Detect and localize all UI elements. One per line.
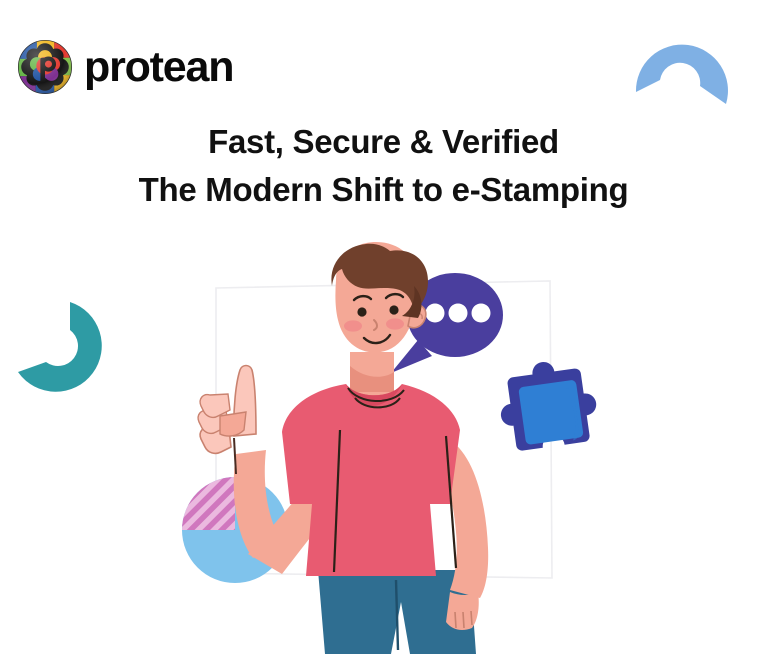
teal-arc-decoration-icon <box>14 300 108 400</box>
headline-line-2: The Modern Shift to e-Stamping <box>0 166 767 214</box>
eye-left <box>357 307 366 316</box>
speech-bubble-dot <box>472 304 491 323</box>
brand-name: protean <box>84 46 233 89</box>
blush-left <box>344 320 362 331</box>
eye-right <box>389 305 398 314</box>
headline-block: Fast, Secure & Verified The Modern Shift… <box>0 118 767 214</box>
protean-sphere-logo-icon <box>16 38 74 96</box>
hero-illustration <box>150 240 610 654</box>
blush-right <box>386 318 404 329</box>
speech-bubble-dot <box>449 304 468 323</box>
speech-bubble-dot <box>426 304 445 323</box>
blue-arc-decoration-icon <box>626 18 731 110</box>
banner-root: protean Fast, Secure & Verified The Mode… <box>0 0 767 654</box>
headline-line-1: Fast, Secure & Verified <box>0 118 767 166</box>
brand-lockup: protean <box>16 38 233 96</box>
